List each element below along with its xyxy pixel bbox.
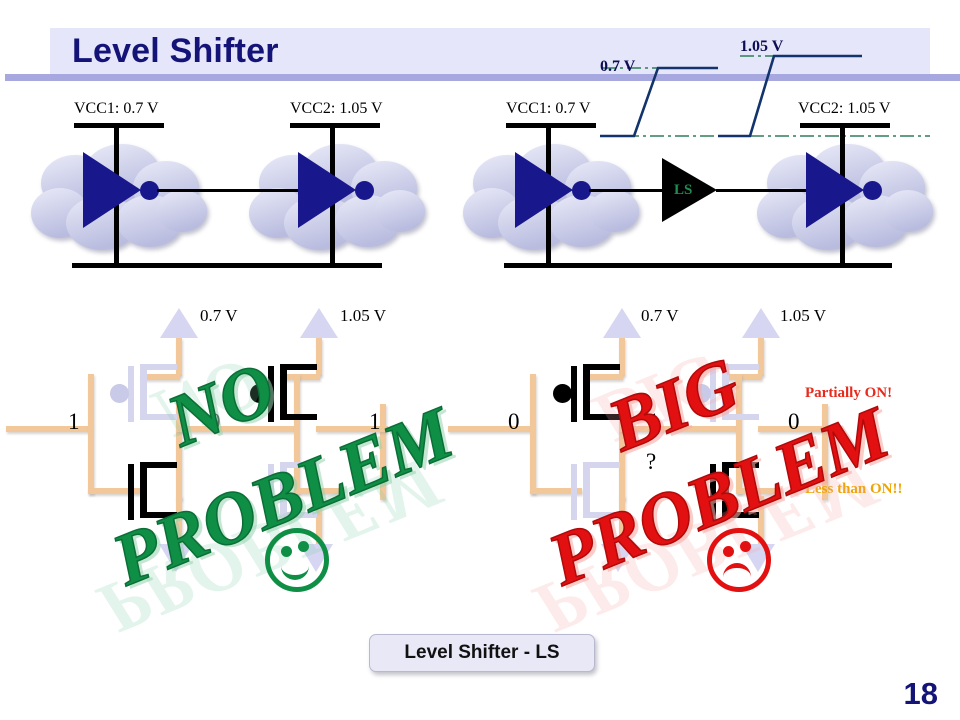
top-right-wire-to-ls [589, 189, 662, 192]
top-right-inverter-1 [515, 152, 573, 228]
bl-input-digit: 1 [68, 409, 80, 435]
top-right-vcc1-label: VCC1: 0.7 V [506, 100, 591, 118]
top-right-wire-from-ls [716, 189, 812, 192]
br-pmos-2-top-arm [729, 364, 759, 370]
sad-face-icon [707, 528, 771, 592]
top-left-vcc2-label: VCC2: 1.05 V [290, 100, 383, 118]
sad-face-mouth [723, 563, 751, 584]
bl-nmos-1-gate-bar [128, 464, 134, 520]
br-vdd1-label: 0.7 V [641, 306, 678, 326]
top-right-vcc1-rail [506, 123, 596, 128]
top-right-inverter-2 [806, 152, 864, 228]
br-pmos-1-top-arm [590, 364, 620, 370]
br-input-vertical [530, 374, 536, 494]
bl-nmos-1-top-arm [147, 462, 177, 468]
bl-vdd2-symbol [300, 308, 338, 338]
top-left-inverter-2 [298, 152, 356, 228]
bl-vdd1-label: 0.7 V [200, 306, 237, 326]
caption-label: Level Shifter - LS [404, 642, 559, 664]
bl-pmos-2-bottom-arm [287, 414, 317, 420]
waveform-label-high: 1.05 V [740, 38, 783, 56]
top-right-vcc2-rail [800, 123, 890, 128]
bl-vdd1-symbol [160, 308, 198, 338]
br-nmos-1-top-arm [590, 462, 620, 468]
happy-face-eye-right [298, 541, 309, 552]
top-left-vcc2-rail [290, 123, 380, 128]
bl-pmos-2-top-arm [287, 364, 317, 370]
top-left-gnd-rail [72, 263, 382, 268]
bl-vdd2-label: 1.05 V [340, 306, 386, 326]
br-input-digit: 0 [508, 409, 520, 435]
top-right-gnd-rail [504, 263, 892, 268]
top-left-vcc1-rail [74, 123, 164, 128]
bl-pmos-1-gate-bubble [110, 384, 129, 403]
bl-input-vertical [88, 374, 94, 494]
page-number: 18 [904, 676, 938, 712]
bl-pmos-1-channel-bar [140, 364, 147, 420]
br-pmos-1-gate-bubble [553, 384, 572, 403]
top-right-inverter-2-bubble [863, 181, 882, 200]
top-left-interconnect-wire [157, 189, 302, 192]
waveform-label-low: 0.7 V [600, 58, 635, 76]
top-left-vcc1-label: VCC1: 0.7 V [74, 100, 159, 118]
br-vdd2-stem [758, 338, 764, 376]
level-shifter-label: LS [674, 182, 692, 199]
br-input-wire [448, 426, 534, 432]
br-vdd1-symbol [603, 308, 641, 338]
happy-face-mouth [281, 559, 309, 580]
top-left-inverter-2-bubble [355, 181, 374, 200]
sad-face-eye-left [723, 546, 734, 557]
br-vdd2-symbol [742, 308, 780, 338]
happy-face-icon [265, 528, 329, 592]
sad-face-eye-right [740, 541, 751, 552]
happy-face-eye-left [281, 546, 292, 557]
bl-vdd2-stem [316, 338, 322, 376]
br-vdd2-label: 1.05 V [780, 306, 826, 326]
page-title: Level Shifter [72, 32, 279, 71]
top-left-inverter-1 [83, 152, 141, 228]
caption-box[interactable]: Level Shifter - LS [369, 634, 595, 672]
top-right-vcc2-label: VCC2: 1.05 V [798, 100, 891, 118]
